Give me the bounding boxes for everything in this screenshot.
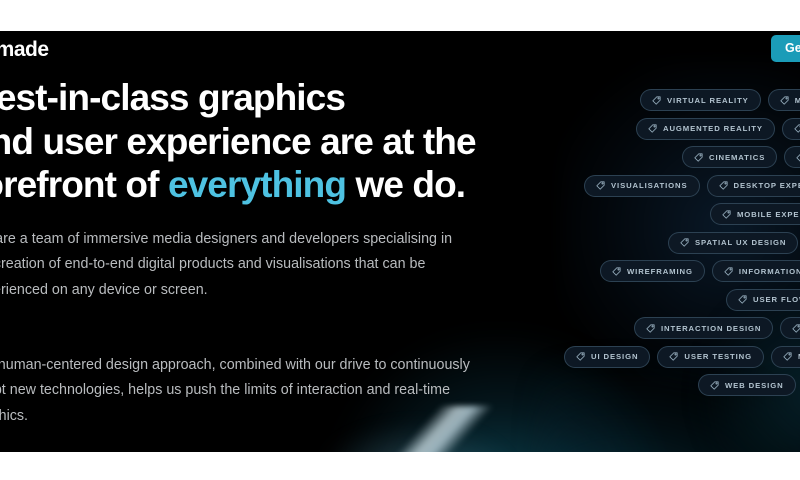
tag-row: WireframingInformation Architecture [600,260,800,282]
tag-pill[interactable]: UI Design [564,346,650,368]
tag-pill-label: Cinematics [709,153,765,162]
tag-icon [710,381,719,390]
tag-icon [738,295,747,304]
tag-row: Spatial UX DesignUX Research [668,232,800,254]
tag-icon [652,96,661,105]
page-viewport: Inmade Get Started Best-in-class graphic… [0,31,800,452]
tag-pill[interactable]: Motion Design [771,346,800,368]
tag-pill-label: Information Architecture [739,267,800,276]
hero-heading-line-3: forefront of everything we do. [0,163,570,207]
hero-paragraph-1: We are a team of immersive media designe… [0,227,470,303]
tag-row: VisualisationsDesktop Experiences [584,175,800,197]
tag-pill[interactable]: User Flows [726,289,800,311]
tag-pill[interactable]: Walkthroughs [784,146,800,168]
tag-pill[interactable]: Mixed Reality [768,89,800,111]
tag-pill-label: Virtual Reality [667,96,749,105]
tag-pill-label: Spatial UX Design [695,238,786,247]
hero-heading-accent-word: everything [168,164,346,205]
tag-row: Virtual RealityMixed Reality [640,89,800,111]
tag-pill-label: Web Design [725,381,784,390]
tag-pill-label: Interaction Design [661,324,761,333]
tag-icon [792,324,800,333]
hero-paragraph-2: Our human-centered design approach, comb… [0,353,470,429]
browser-chrome-strip [0,0,800,31]
tag-pill[interactable]: Desktop Experiences [707,175,800,197]
hero-heading-line-2: and user experience are at the [0,120,570,164]
hero-heading-line-1: Best-in-class graphics [0,76,570,120]
tag-icon [648,124,657,133]
tag-row: Mobile ExperiencesInstallations [710,203,800,225]
tag-icon [780,96,789,105]
tag-pill[interactable]: Web Design [698,374,796,396]
tag-icon [669,352,678,361]
tag-row: User FlowsPrototyping [726,289,800,311]
tag-pill[interactable]: Design Systems [780,317,800,339]
tag-icon [783,352,792,361]
tag-row: UI DesignUser TestingMotion Design [564,346,800,368]
tag-pill-label: UI Design [591,352,638,361]
brand-logo[interactable]: Inmade [0,38,49,62]
tag-row: Augmented Reality3D [636,118,800,140]
tag-row: Web DesignProduct Strategy [698,374,800,396]
tag-icon [612,267,621,276]
tag-pill-label: Visualisations [611,181,688,190]
tag-icon [796,153,800,162]
tag-pill[interactable]: Augmented Reality [636,118,775,140]
tag-pill[interactable]: Mobile Experiences [710,203,800,225]
site-navigation-bar: Inmade Get Started [0,31,800,69]
tag-icon [719,181,728,190]
tag-icon [794,124,800,133]
tag-pill-label: Mobile Experiences [737,210,800,219]
tag-pill[interactable]: Spatial UX Design [668,232,798,254]
tag-icon [694,153,703,162]
tag-row: Interaction DesignDesign Systems [634,317,800,339]
tag-icon [680,238,689,247]
tag-pill[interactable]: Visualisations [584,175,700,197]
tag-icon [576,352,585,361]
below-fold-whitespace [0,452,800,480]
hero-heading-line-3-pre: forefront of [0,164,168,205]
tag-pill-label: User Testing [684,352,752,361]
tag-pill-label: Mixed Reality [795,96,800,105]
hero-heading-line-3-post: we do. [346,164,465,205]
tag-icon [722,210,731,219]
tag-icon [596,181,605,190]
tag-pill-label: Augmented Reality [663,124,763,133]
tag-pill-label: Desktop Experiences [734,181,800,190]
tag-pill[interactable]: Wireframing [600,260,705,282]
tag-pill[interactable]: Virtual Reality [640,89,761,111]
hero-heading: Best-in-class graphics and user experien… [0,76,570,207]
tag-icon [724,267,733,276]
tag-row: CinematicsWalkthroughs [682,146,800,168]
tag-pill-label: Wireframing [627,267,693,276]
tag-pill[interactable]: 3D [782,118,800,140]
tag-pill[interactable]: Cinematics [682,146,777,168]
tag-icon [646,324,655,333]
tag-pill[interactable]: Interaction Design [634,317,773,339]
tag-pill[interactable]: Information Architecture [712,260,800,282]
tag-pill-label: User Flows [753,295,800,304]
tag-pill[interactable]: User Testing [657,346,764,368]
get-started-button[interactable]: Get Started [771,35,800,62]
service-tag-cloud: Virtual RealityMixed RealityAugmented Re… [540,89,800,403]
